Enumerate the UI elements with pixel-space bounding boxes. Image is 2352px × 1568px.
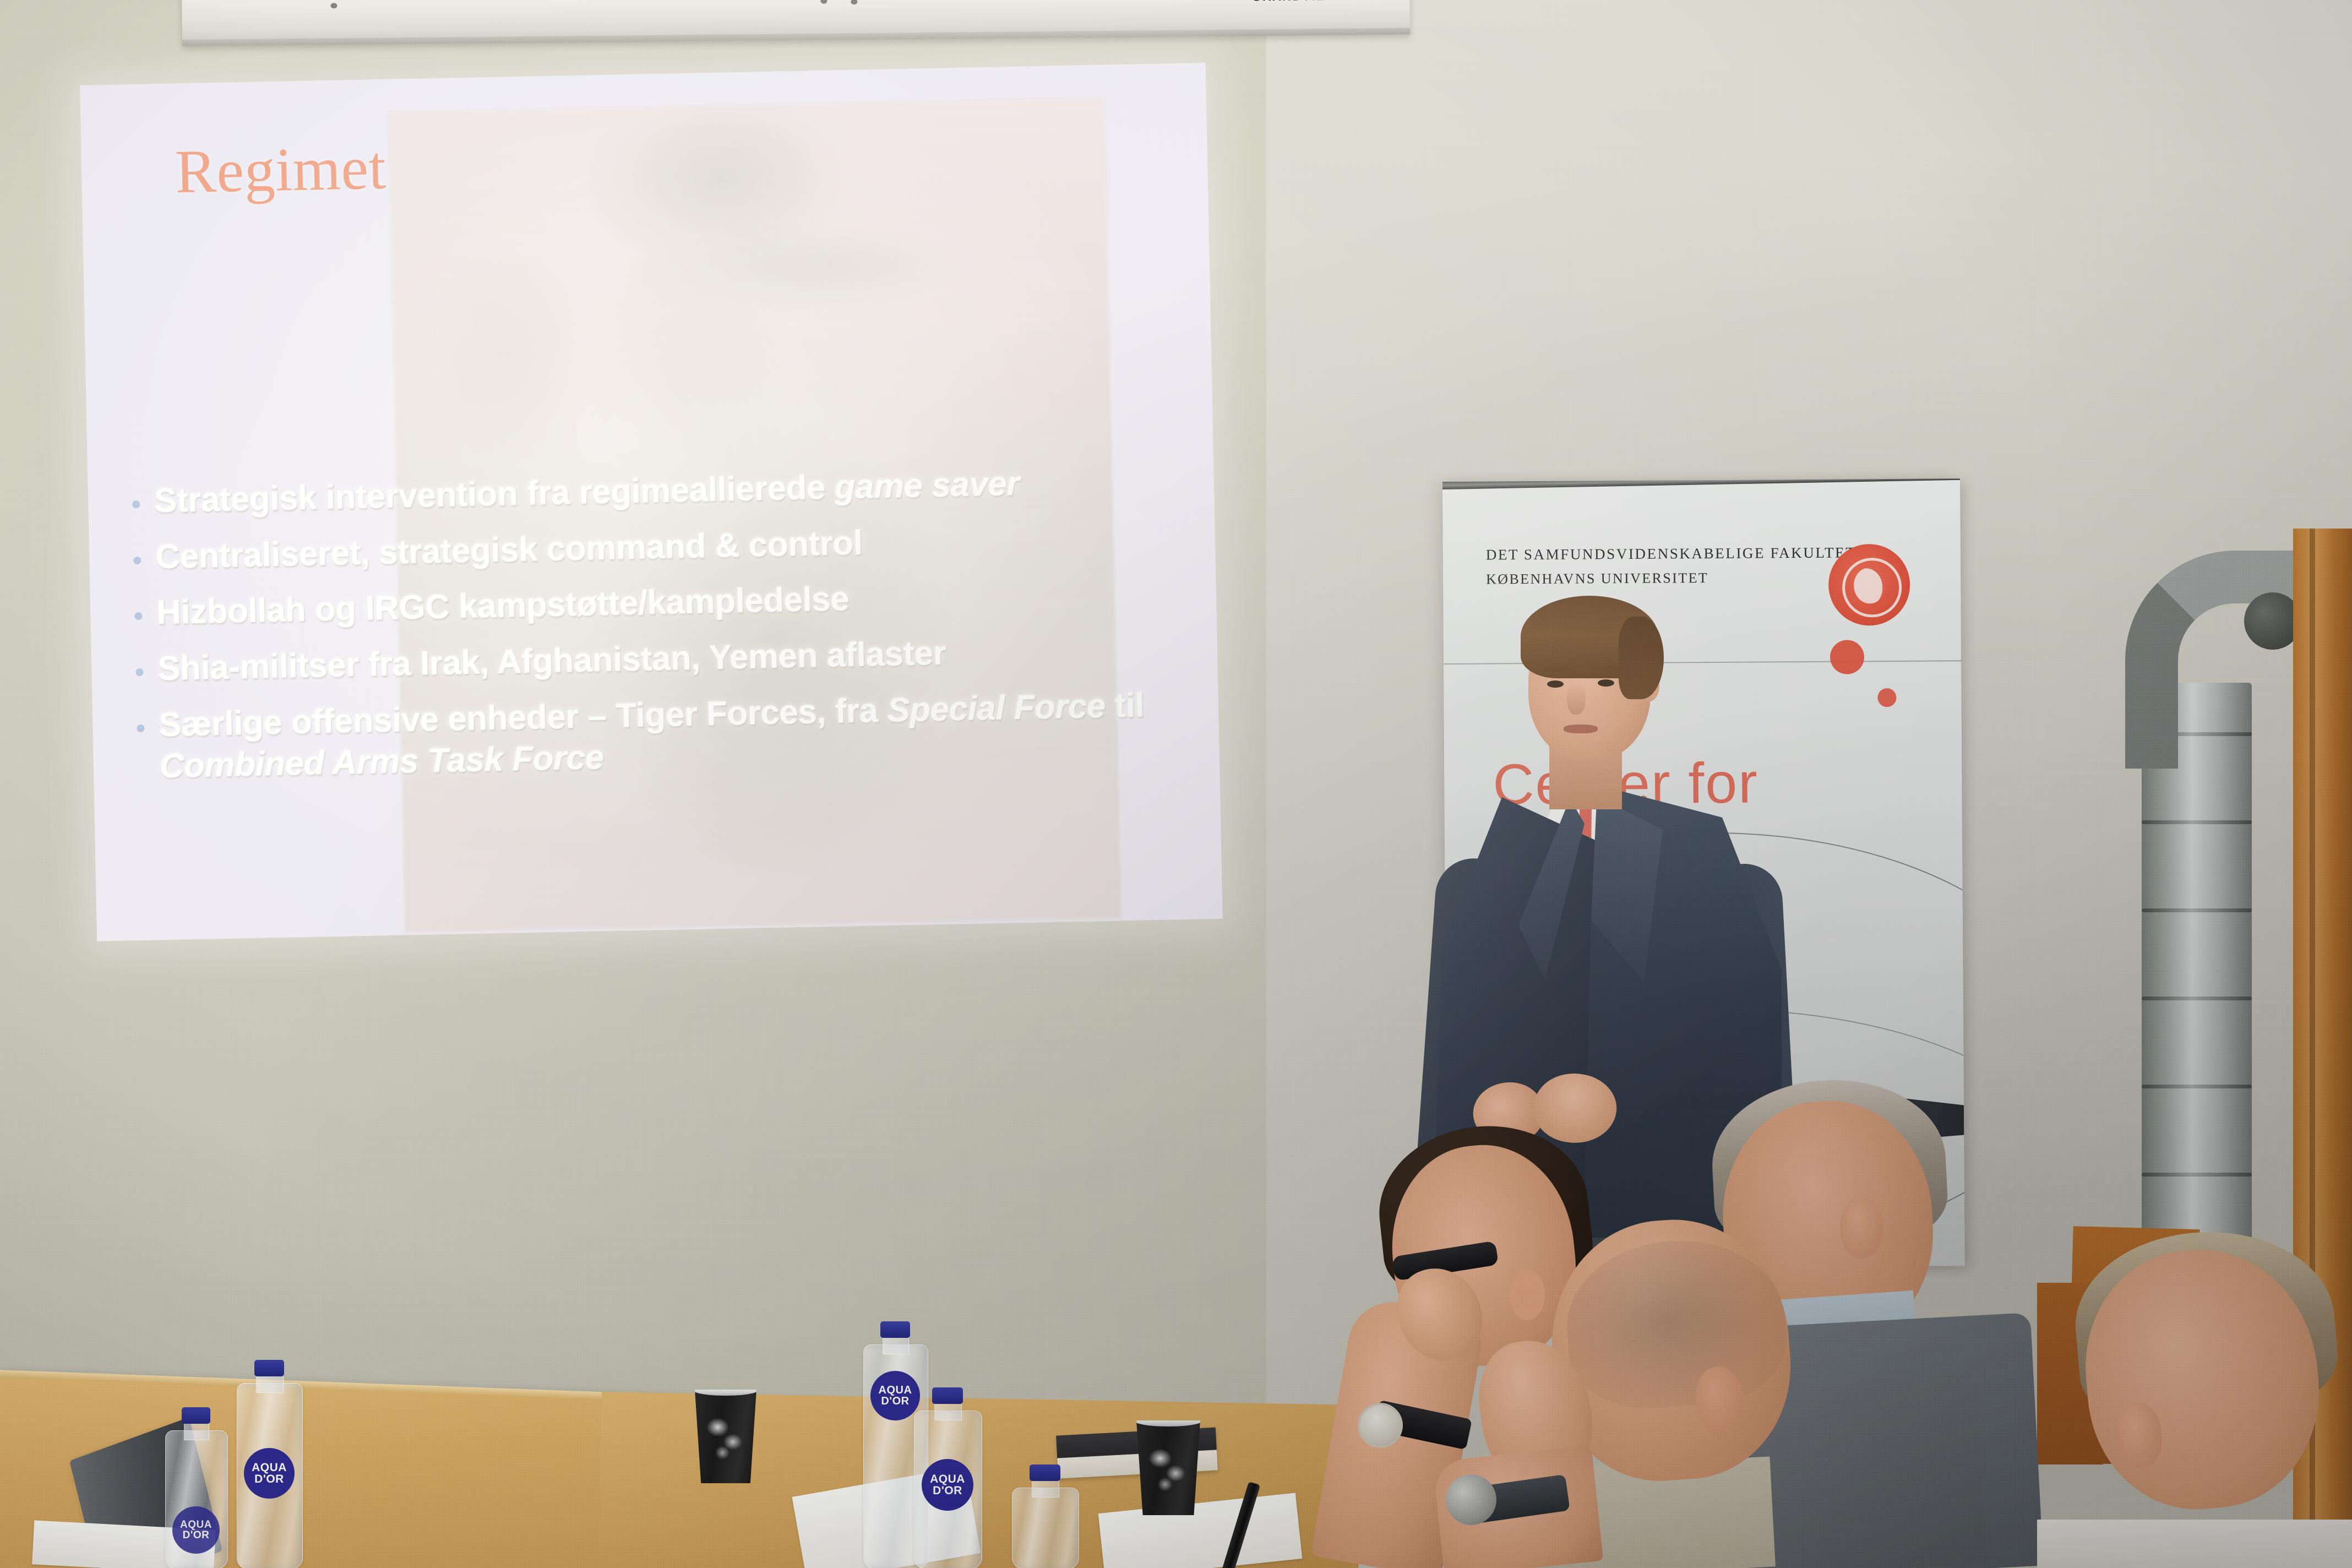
presentation-room-photo: GRANDVIEW Regimet Strategisk interventio… (0, 0, 2352, 1568)
photo-vignette (0, 0, 2352, 1568)
